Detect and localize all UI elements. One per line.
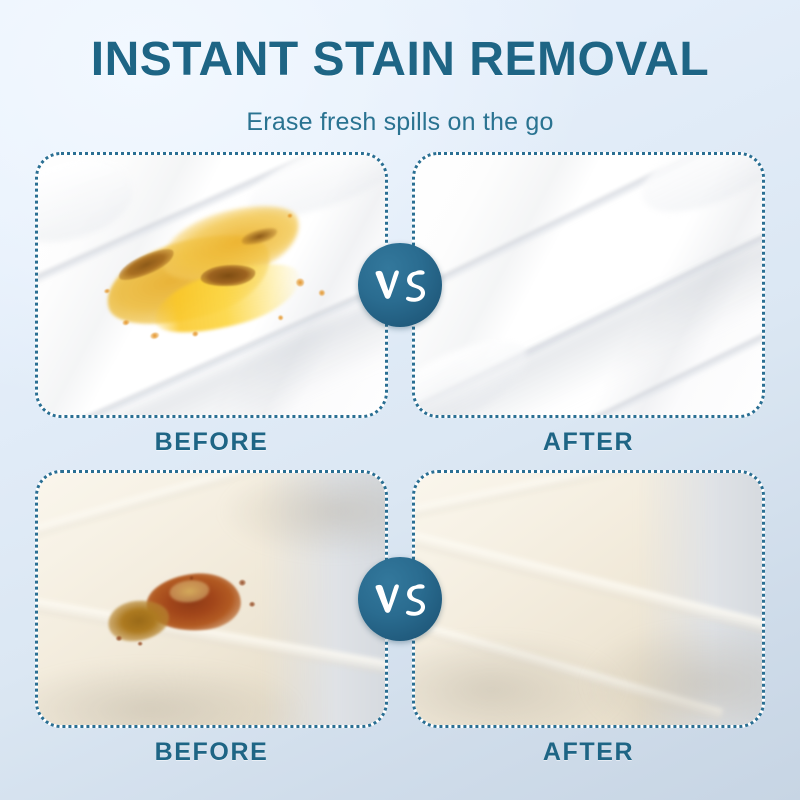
- after-photo-comforter: [415, 155, 762, 415]
- vs-badge-icon: [372, 579, 428, 619]
- vs-badge-comforter: [358, 243, 442, 327]
- page-subtitle: Erase fresh spills on the go: [0, 110, 800, 135]
- after-photo-pillow: [415, 473, 762, 725]
- page-title: INSTANT STAIN REMOVAL: [0, 36, 800, 84]
- vs-badge-icon: [372, 265, 428, 305]
- comparison-row-pillow: [35, 470, 765, 728]
- before-image-panel-pillow[interactable]: [35, 470, 388, 728]
- caption-after-comforter: AFTER: [412, 430, 765, 455]
- stain-removal-infographic: INSTANT STAIN REMOVAL Erase fresh spills…: [0, 0, 800, 800]
- caption-after-pillow: AFTER: [412, 740, 765, 765]
- header: INSTANT STAIN REMOVAL Erase fresh spills…: [0, 0, 800, 150]
- caption-before-pillow: BEFORE: [35, 740, 388, 765]
- after-image-panel-pillow[interactable]: [412, 470, 765, 728]
- clean-quilt-fabric-texture: [415, 155, 762, 415]
- comparison-row-comforter: [35, 152, 765, 418]
- after-image-panel-comforter[interactable]: [412, 152, 765, 418]
- before-image-panel-comforter[interactable]: [35, 152, 388, 418]
- clean-pillow-fabric-texture: [415, 473, 762, 725]
- before-photo-comforter: [38, 155, 385, 415]
- before-photo-pillow: [38, 473, 385, 725]
- caption-before-comforter: BEFORE: [35, 430, 388, 455]
- vs-badge-pillow: [358, 557, 442, 641]
